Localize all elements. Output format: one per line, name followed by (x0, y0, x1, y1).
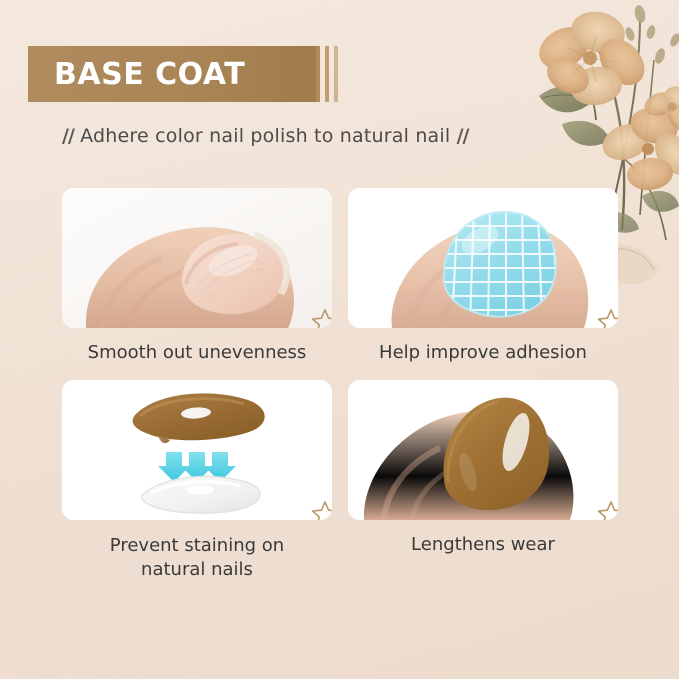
subtitle-prefix-slashes: // (62, 125, 74, 147)
subtitle-suffix-slashes: // (457, 125, 469, 147)
brown-polish-over-clear-base-diagram (62, 380, 332, 520)
card-caption-line1: Prevent staining on (110, 535, 284, 556)
card-image-frame (62, 188, 332, 328)
card-image-frame (348, 188, 618, 328)
page-title: BASE COAT (28, 57, 245, 92)
card-image-frame (348, 380, 618, 520)
feature-card-help-improve-adhesion: Help improve adhesion (348, 188, 618, 380)
title-band: BASE COAT (28, 46, 316, 102)
card-caption: Help improve adhesion (348, 342, 618, 364)
star-icon (308, 306, 332, 328)
subtitle-text: Adhere color nail polish to natural nail (80, 125, 450, 147)
card-caption: Prevent staining on natural nails (62, 534, 332, 582)
star-icon (594, 306, 618, 328)
card-image-frame (62, 380, 332, 520)
star-icon (308, 498, 332, 520)
feature-card-grid: Smooth out unevenness (62, 188, 618, 598)
title-decorative-bars (316, 46, 338, 102)
card-caption-line2: natural nails (141, 559, 253, 580)
star-icon (594, 498, 618, 520)
card-caption: Smooth out unevenness (62, 342, 332, 364)
natural-nail-closeup-photo (62, 188, 332, 328)
subtitle: // Adhere color nail polish to natural n… (62, 125, 469, 147)
feature-card-lengthens-wear: Lengthens wear (348, 380, 618, 598)
blue-grid-adhesion-nail-photo (348, 188, 618, 328)
card-caption: Lengthens wear (348, 534, 618, 556)
feature-card-smooth-out-unevenness: Smooth out unevenness (62, 188, 332, 380)
feature-card-prevent-staining: Prevent staining on natural nails (62, 380, 332, 598)
brown-painted-nail-photo (348, 380, 618, 520)
